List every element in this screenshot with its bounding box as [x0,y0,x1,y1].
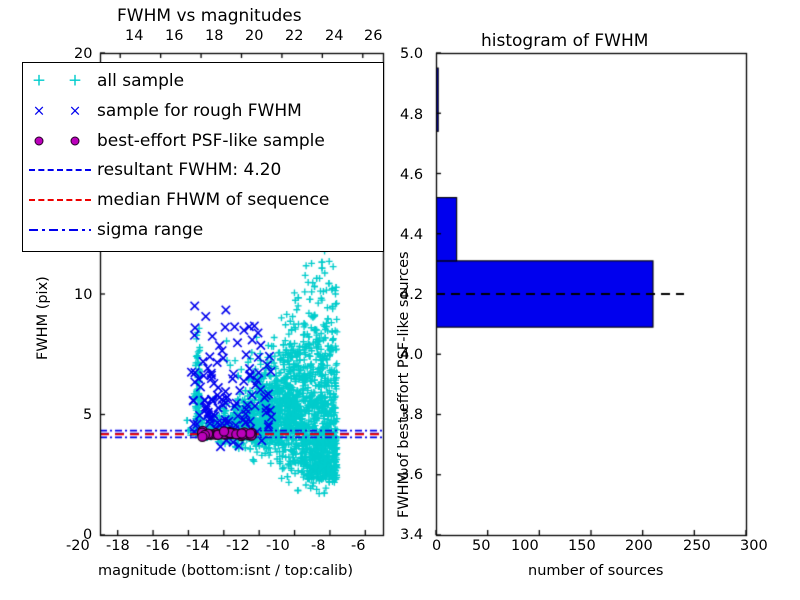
matplotlib-figure: FWHM vs magnitudes magnitude (bottom:isn… [0,0,800,600]
plot-canvas [0,0,800,600]
